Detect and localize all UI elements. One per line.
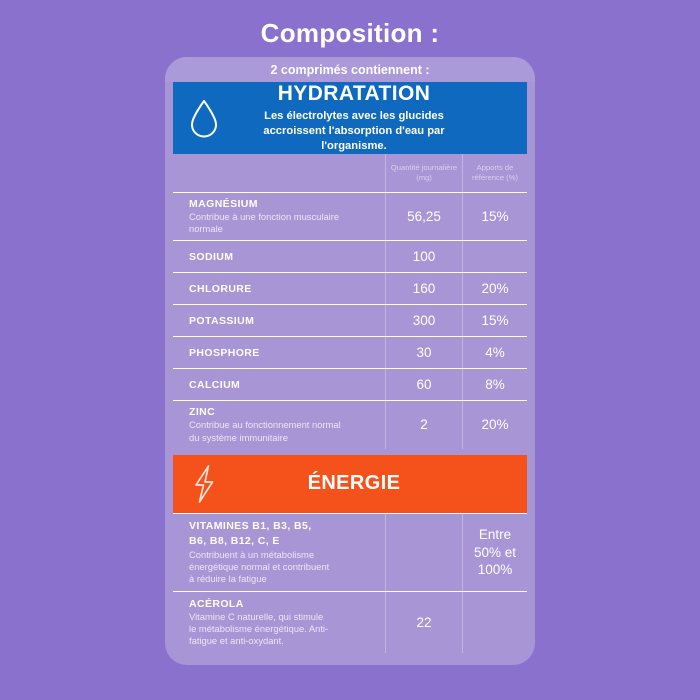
table-row: ACÉROLA Vitamine C naturelle, qui stimul… bbox=[173, 591, 527, 653]
nutrient-description: Contribue au fonctionnement normal du sy… bbox=[189, 419, 385, 443]
energy-title: ÉNERGIE bbox=[235, 472, 473, 495]
row-name-cell: ACÉROLA Vitamine C naturelle, qui stimul… bbox=[173, 592, 385, 653]
card-subtitle-text: 2 comprimés contiennent : bbox=[270, 63, 429, 77]
nutrient-name: CHLORURE bbox=[189, 283, 385, 295]
row-quantity-cell: 30 bbox=[385, 337, 462, 368]
hydration-table: Quantité journalière (mg) Apports de réf… bbox=[165, 154, 535, 449]
row-reference-cell: 15% bbox=[462, 305, 527, 336]
nutrient-name: CALCIUM bbox=[189, 379, 385, 391]
hydration-subtitle: Les électrolytes avec les glucides accro… bbox=[235, 109, 473, 154]
nutrient-description: Contribue à une fonction musculaire norm… bbox=[189, 211, 385, 235]
row-reference-cell: 4% bbox=[462, 337, 527, 368]
header-cell-name bbox=[173, 154, 385, 192]
nutrient-name: SODIUM bbox=[189, 251, 385, 263]
composition-card: 2 comprimés contiennent : HYDRATATION Le… bbox=[165, 57, 535, 665]
row-reference-cell: 15% bbox=[462, 193, 527, 240]
row-name-cell: MAGNÉSIUM Contribue à une fonction muscu… bbox=[173, 193, 385, 240]
row-reference-cell: 20% bbox=[462, 401, 527, 448]
table-row: ZINC Contribue au fonctionnement normal … bbox=[173, 400, 527, 448]
row-quantity-cell: 2 bbox=[385, 401, 462, 448]
nutrient-name: MAGNÉSIUM bbox=[189, 198, 385, 210]
row-name-cell: SODIUM bbox=[173, 241, 385, 272]
table-row: CALCIUM 60 8% bbox=[173, 368, 527, 400]
table-header-row: Quantité journalière (mg) Apports de réf… bbox=[173, 154, 527, 192]
row-reference-cell bbox=[462, 592, 527, 653]
row-reference-cell: 20% bbox=[462, 273, 527, 304]
nutrient-description: Contribuent à un métabolisme énergétique… bbox=[189, 549, 385, 586]
page-title: Composition : bbox=[0, 18, 700, 49]
table-row: CHLORURE 160 20% bbox=[173, 272, 527, 304]
table-row: MAGNÉSIUM Contribue à une fonction muscu… bbox=[173, 192, 527, 240]
lightning-bolt-icon bbox=[173, 464, 235, 504]
row-reference-cell: 8% bbox=[462, 369, 527, 400]
row-quantity-cell: 60 bbox=[385, 369, 462, 400]
row-quantity-cell: 100 bbox=[385, 241, 462, 272]
energy-banner-text: ÉNERGIE bbox=[235, 472, 527, 495]
section-banner-energy: ÉNERGIE bbox=[173, 455, 527, 513]
row-quantity-cell: 56,25 bbox=[385, 193, 462, 240]
nutrient-name: PHOSPHORE bbox=[189, 347, 385, 359]
row-name-cell: VITAMINES B1, B3, B5, B6, B8, B12, C, E … bbox=[173, 514, 385, 591]
energy-table: VITAMINES B1, B3, B5, B6, B8, B12, C, E … bbox=[165, 513, 535, 653]
nutrient-name: VITAMINES B1, B3, B5, B6, B8, B12, C, E bbox=[189, 519, 385, 547]
water-drop-icon bbox=[173, 98, 235, 138]
nutrient-description: Vitamine C naturelle, qui stimule le mét… bbox=[189, 611, 385, 648]
table-row: PHOSPHORE 30 4% bbox=[173, 336, 527, 368]
row-quantity-cell: 160 bbox=[385, 273, 462, 304]
row-reference-cell: Entre 50% et 100% bbox=[462, 514, 527, 591]
table-row: POTASSIUM 300 15% bbox=[173, 304, 527, 336]
hydration-title: HYDRATATION bbox=[235, 82, 473, 106]
row-quantity-cell: 22 bbox=[385, 592, 462, 653]
section-banner-hydration: HYDRATATION Les électrolytes avec les gl… bbox=[173, 82, 527, 154]
hydration-banner-text: HYDRATATION Les électrolytes avec les gl… bbox=[235, 82, 527, 154]
nutrient-name: ACÉROLA bbox=[189, 598, 385, 610]
row-quantity-cell bbox=[385, 514, 462, 591]
card-subtitle-bar: 2 comprimés contiennent : bbox=[165, 57, 535, 82]
row-name-cell: PHOSPHORE bbox=[173, 337, 385, 368]
table-row: VITAMINES B1, B3, B5, B6, B8, B12, C, E … bbox=[173, 513, 527, 591]
row-reference-cell bbox=[462, 241, 527, 272]
row-name-cell: POTASSIUM bbox=[173, 305, 385, 336]
nutrient-name: POTASSIUM bbox=[189, 315, 385, 327]
header-cell-quantity: Quantité journalière (mg) bbox=[385, 154, 462, 192]
table-row: SODIUM 100 bbox=[173, 240, 527, 272]
row-name-cell: CHLORURE bbox=[173, 273, 385, 304]
nutrient-name: ZINC bbox=[189, 406, 385, 418]
header-cell-reference: Apports de référence (%) bbox=[462, 154, 527, 192]
row-quantity-cell: 300 bbox=[385, 305, 462, 336]
row-name-cell: CALCIUM bbox=[173, 369, 385, 400]
row-name-cell: ZINC Contribue au fonctionnement normal … bbox=[173, 401, 385, 448]
